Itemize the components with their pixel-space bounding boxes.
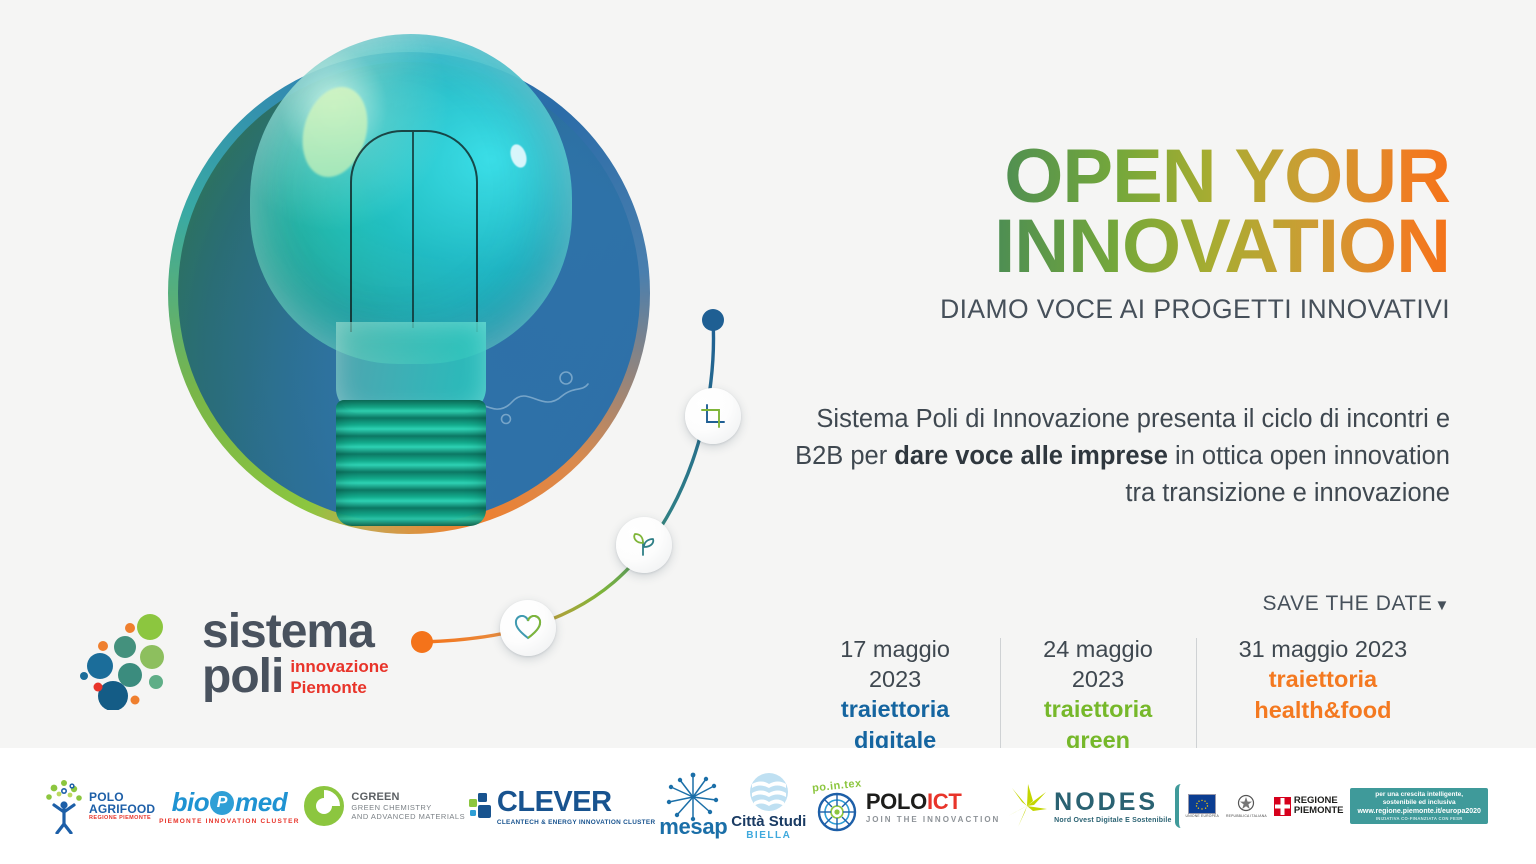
hero-visual: sistema poli innovazione Piemonte — [0, 0, 760, 748]
date-value: 31 maggio 2023 — [1222, 634, 1424, 664]
arc-path — [400, 290, 740, 690]
title-line-2: INNOVATION — [790, 212, 1450, 282]
regione-piemonte-block: REGIONE PIEMONTE — [1274, 796, 1344, 816]
arc-end-dot — [411, 631, 433, 653]
clever-squares-icon — [469, 793, 495, 819]
cgreen-sub1: GREEN CHEMISTRY — [351, 803, 465, 813]
cgreen-sub2: AND ADVANCED MATERIALS — [351, 812, 465, 822]
logo-polo-ict[interactable]: POLO ICT JOIN THE INNOVACTION — [866, 789, 1001, 824]
logo-citta-studi-pointex-group[interactable]: Città Studi BIELLA po.in.tex — [731, 771, 862, 841]
italy-emblem-icon — [1236, 794, 1256, 814]
description-text: Sistema Poli di Innovazione presenta il … — [790, 401, 1450, 512]
badge-green[interactable] — [616, 517, 672, 573]
nodes-star-icon — [1004, 782, 1050, 830]
sistema-poli-logo: sistema poli innovazione Piemonte — [78, 608, 378, 708]
pointex-weave-icon — [817, 792, 857, 832]
citta-studi-globe-icon — [748, 771, 790, 813]
italy-emblem-block: REPUBBLICA ITALIANA — [1226, 794, 1267, 818]
agrifood-sub: REGIONE PIEMONTE — [89, 815, 155, 821]
italy-caption: REPUBBLICA ITALIANA — [1226, 814, 1267, 818]
polo-ict-title1: POLO — [866, 789, 927, 815]
agrifood-line2: AGRIFOOD — [89, 803, 155, 815]
crop-frame-icon — [700, 403, 726, 429]
eu-flag-block: UNIONE EUROPEA — [1185, 794, 1219, 818]
page-subtitle: DIAMO VOCE AI PROGETTI INNOVATIVI — [790, 294, 1450, 325]
nodes-title: NODES — [1054, 788, 1171, 817]
date-value: 24 maggio 2023 — [1026, 634, 1170, 694]
hero-content: OPEN YOUR INNOVATION DIAMO VOCE AI PROGE… — [790, 0, 1450, 748]
page-title: OPEN YOUR INNOVATION — [790, 142, 1450, 282]
logo-pointex[interactable]: po.in.tex — [812, 780, 862, 832]
badge-health-food[interactable] — [500, 600, 556, 656]
partner-logos-footer: POLO AGRIFOOD REGIONE PIEMONTE bio P med… — [0, 748, 1536, 864]
trajectory-arc — [400, 290, 740, 690]
nodes-sub: Nord Ovest Digitale E Sostenibile — [1054, 817, 1171, 824]
slogan-line1: per una crescita intelligente, — [1357, 791, 1480, 799]
caret-down-icon: ▼ — [1435, 597, 1450, 614]
date-column-health-food[interactable]: 31 maggio 2023 traiettoria health&food — [1196, 634, 1450, 756]
leaf-icon — [630, 531, 658, 559]
biopmed-p-mark: P — [210, 791, 234, 815]
logo-poli-text: poli — [202, 654, 283, 700]
europa2020-panel: per una crescita intelligente, sostenibi… — [1350, 788, 1487, 824]
logo-clever[interactable]: CLEVER CLEANTECH & ENERGY INNOVATION CLU… — [469, 786, 655, 826]
polo-ict-sub: JOIN THE INNOVACTION — [866, 815, 1001, 824]
logo-tagline-line2: Piemonte — [290, 679, 388, 700]
date-track-label: traiettoria green — [1026, 694, 1170, 756]
logo-biopmed[interactable]: bio P med PIEMONTE INNOVATION CLUSTER — [159, 787, 300, 825]
date-column-digitale[interactable]: 17 maggio 2023 traiettoria digitale — [790, 634, 1000, 756]
clever-sub: CLEANTECH & ENERGY INNOVATION CLUSTER — [497, 819, 655, 826]
citta-studi-sub: BIELLA — [746, 830, 791, 841]
cgreen-circle-icon — [303, 785, 345, 827]
eu-flag-caption: UNIONE EUROPEA — [1185, 814, 1219, 818]
date-track-label: traiettoria digitale — [816, 694, 974, 756]
clever-title: CLEVER — [497, 786, 655, 819]
logo-tagline-line1: innovazione — [290, 658, 388, 679]
description-part-2: in ottica open innovation tra transizion… — [1125, 442, 1450, 507]
logo-citta-studi[interactable]: Città Studi BIELLA — [731, 771, 806, 841]
title-line-1: OPEN YOUR — [790, 142, 1450, 212]
logo-mesap[interactable]: mesap — [659, 772, 727, 840]
description-bold: dare voce alle imprese — [894, 442, 1168, 470]
regione-piemonte-crest-icon — [1274, 797, 1291, 816]
regione-line2: PIEMONTE — [1294, 806, 1344, 816]
save-the-date-label: SAVE THE DATE▼ — [790, 592, 1450, 616]
logo-nodes[interactable]: NODES Nord Ovest Digitale E Sostenibile — [1004, 782, 1171, 830]
cgreen-title: CGREEN — [351, 791, 465, 803]
biopmed-post: med — [235, 787, 287, 818]
logo-cgreen[interactable]: CGREEN GREEN CHEMISTRY AND ADVANCED MATE… — [303, 785, 465, 827]
europa2020-url[interactable]: www.regione.piemonte.it/europa2020 — [1357, 807, 1480, 816]
date-track-label: traiettoria health&food — [1222, 664, 1424, 726]
logo-eu-regione-piemonte[interactable]: UNIONE EUROPEA REPUBBLICA ITALIANA — [1175, 784, 1493, 828]
logo-polo-agrifood[interactable]: POLO AGRIFOOD REGIONE PIEMONTE — [42, 778, 155, 834]
save-the-date-text: SAVE THE DATE — [1263, 592, 1433, 615]
citta-studi-title: Città Studi — [731, 813, 806, 830]
slogan-line2: sostenibile ed inclusiva — [1357, 799, 1480, 807]
heart-icon — [514, 615, 542, 641]
fesr-footnote: INIZIATIVA CO-FINANZIATA CON FESR — [1357, 816, 1480, 821]
dates-row: 17 maggio 2023 traiettoria digitale 24 m… — [790, 634, 1450, 756]
badge-digital[interactable] — [685, 388, 741, 444]
mesap-title: mesap — [659, 814, 727, 840]
agrifood-tree-icon — [42, 778, 86, 834]
polo-ict-title2: ICT — [927, 789, 962, 815]
logo-sistema-text: sistema — [202, 610, 389, 654]
biopmed-sub: PIEMONTE INNOVATION CLUSTER — [159, 818, 300, 825]
eu-flag-icon — [1188, 794, 1216, 814]
logo-dot-cluster-icon — [78, 614, 194, 710]
bulb-specular-dot — [508, 142, 530, 169]
arc-start-dot — [702, 309, 724, 331]
biopmed-pre: bio — [172, 787, 210, 818]
date-column-green[interactable]: 24 maggio 2023 traiettoria green — [1000, 634, 1196, 756]
promo-banner: sistema poli innovazione Piemonte OPEN Y… — [0, 0, 1536, 864]
date-value: 17 maggio 2023 — [816, 634, 974, 694]
